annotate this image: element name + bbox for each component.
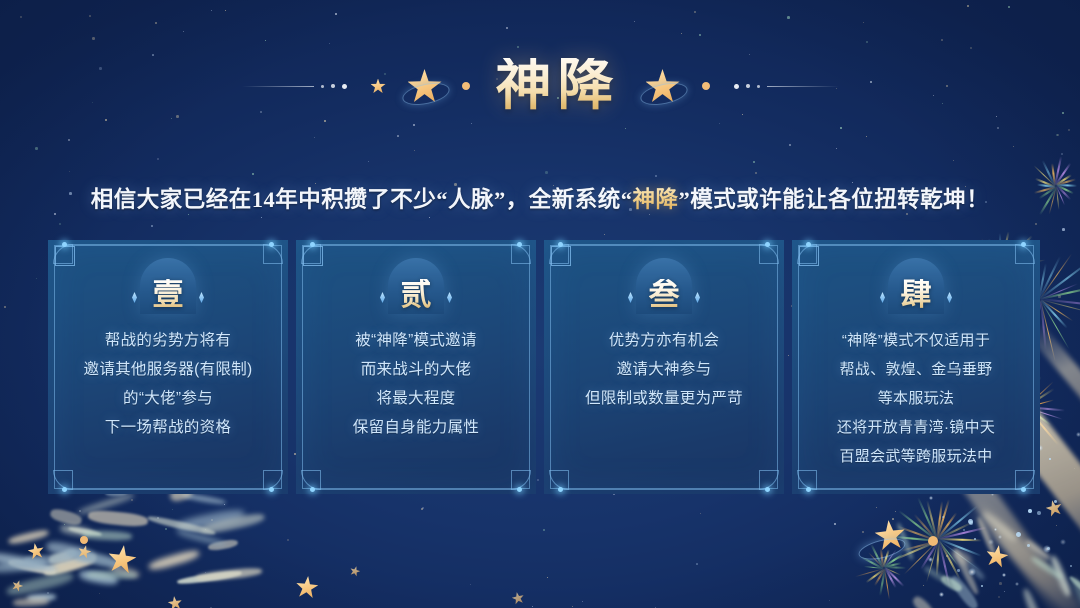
- confetti-streamer: [208, 538, 239, 551]
- card-body: 帮战的劣势方将有邀请其他服务器(有限制)的“大佬”参与下一场帮战的资格: [48, 326, 288, 442]
- title-row: 神降: [0, 42, 1080, 130]
- card-numeral-badge: 贰: [376, 258, 456, 314]
- feature-card-list: 壹帮战的劣势方将有邀请其他服务器(有限制)的“大佬”参与下一场帮战的资格贰被“神…: [48, 240, 1040, 494]
- card-numeral-badge: 壹: [128, 258, 208, 314]
- star-icon: [77, 544, 93, 560]
- confetti-streamer: [1070, 577, 1080, 608]
- sparkle-icon: [969, 521, 973, 525]
- badge-gem-icon: [880, 292, 885, 303]
- card-text-line: 帮战的劣势方将有: [58, 326, 278, 355]
- card-text-line: 百盟会武等跨服玩法中: [802, 442, 1030, 471]
- confetti-streamer: [182, 492, 227, 506]
- card-corner-icon: [263, 244, 283, 264]
- sparkle-icon: [939, 592, 944, 597]
- star-swirl-ring-icon: [857, 534, 908, 563]
- sparkle-icon: [929, 496, 933, 500]
- card-node-icon: [806, 242, 811, 247]
- star-icon: [349, 565, 361, 577]
- card-node-icon: [62, 242, 67, 247]
- confetti-streamer: [1048, 554, 1072, 597]
- card-corner-icon: [759, 244, 779, 264]
- star-icon: [408, 69, 442, 103]
- card-numeral: 肆: [901, 279, 932, 314]
- card-text-line: 邀请大神参与: [554, 355, 774, 384]
- star-icon: [1044, 498, 1063, 517]
- confetti-streamer: [177, 569, 242, 585]
- badge-gem-icon: [380, 292, 385, 303]
- card-text-line: 的“大佬”参与: [58, 384, 278, 413]
- card-node-icon: [269, 487, 274, 492]
- confetti-streamer: [42, 552, 97, 578]
- star-icon: [295, 575, 319, 599]
- feature-card: 肆“神降”模式不仅适用于帮战、敦煌、金乌垂野等本服玩法还将开放青青湾·镜中天百盟…: [792, 240, 1040, 494]
- subtitle-part-1: 相信大家已经在14年中积攒了不少“人脉”，全新系统“: [91, 187, 633, 212]
- card-text-line: 还将开放青青湾·镜中天: [802, 413, 1030, 442]
- confetti-streamer: [87, 570, 138, 579]
- sparkle-icon: [1060, 539, 1066, 545]
- sparkle-icon: [1016, 532, 1021, 537]
- card-text-line: 但限制或数量更为严苛: [554, 384, 774, 413]
- card-body: 优势方亦有机会邀请大神参与但限制或数量更为严苛: [544, 326, 784, 413]
- confetti-streamer: [1068, 575, 1080, 608]
- sparkle-icon: [1002, 573, 1006, 577]
- card-node-icon: [310, 242, 315, 247]
- confetti-streamer: [24, 554, 72, 565]
- deco-dot-icon: [734, 84, 739, 89]
- poster-stage: 神降 相信大家已经在14年中积攒了不少“人脉”，全新系统“神降”模式或许能让各位…: [0, 0, 1080, 608]
- sparkle-icon: [942, 516, 944, 518]
- sparkle-icon: [981, 585, 983, 587]
- feature-card: 壹帮战的劣势方将有邀请其他服务器(有限制)的“大佬”参与下一场帮战的资格: [48, 240, 288, 494]
- card-numeral-badge: 叁: [624, 258, 704, 314]
- card-node-icon: [269, 242, 274, 247]
- star-icon: [371, 79, 386, 94]
- confetti-streamer: [82, 530, 132, 541]
- card-rail: [312, 244, 520, 245]
- card-corner-icon: [549, 244, 569, 264]
- confetti-streamer: [201, 512, 266, 536]
- confetti-streamer: [948, 574, 980, 608]
- sparkle-icon: [1049, 458, 1051, 460]
- confetti-streamer: [78, 568, 118, 586]
- card-node-icon: [765, 487, 770, 492]
- deco-dot-icon: [746, 84, 750, 88]
- feature-card: 贰被“神降”模式邀请而来战斗的大佬将最大程度保留自身能力属性: [296, 240, 536, 494]
- badge-gem-icon: [199, 292, 204, 303]
- card-text-line: 保留自身能力属性: [306, 413, 526, 442]
- sparkle-icon: [988, 539, 994, 545]
- card-node-icon: [558, 242, 563, 247]
- card-rail: [560, 489, 768, 490]
- confetti-streamer: [87, 509, 148, 528]
- star-swirl-icon: [408, 69, 442, 103]
- card-text-line: 而来战斗的大佬: [306, 355, 526, 384]
- card-node-icon: [765, 242, 770, 247]
- card-rail: [808, 489, 1024, 490]
- confetti-streamer: [923, 565, 946, 583]
- card-node-icon: [517, 242, 522, 247]
- confetti-streamer: [196, 567, 262, 582]
- sparkle-icon: [1054, 500, 1057, 503]
- confetti-streamer: [49, 507, 83, 527]
- confetti-streamer: [950, 547, 974, 567]
- confetti-streamer: [175, 529, 225, 548]
- feature-card: 叁优势方亦有机会邀请大神参与但限制或数量更为严苛: [544, 240, 784, 494]
- confetti-streamer: [175, 507, 245, 533]
- card-text-line: 邀请其他服务器(有限制): [58, 355, 278, 384]
- confetti-streamer: [8, 529, 50, 546]
- sparkle-icon: [1043, 545, 1051, 553]
- badge-gem-icon: [947, 292, 952, 303]
- sparkle-icon: [968, 568, 976, 576]
- card-text-line: 下一场帮战的资格: [58, 413, 278, 442]
- confetti-streamer: [47, 548, 77, 565]
- subtitle: 相信大家已经在14年中积攒了不少“人脉”，全新系统“神降”模式或许能让各位扭转乾…: [0, 182, 1080, 214]
- star-icon: [167, 595, 183, 608]
- badge-gem-icon: [628, 292, 633, 303]
- confetti-streamer: [147, 548, 200, 572]
- sparkle-icon: [957, 569, 960, 572]
- card-text-line: 帮战、敦煌、金乌垂野: [802, 355, 1030, 384]
- card-numeral: 贰: [401, 279, 432, 314]
- card-node-icon: [62, 487, 67, 492]
- card-text-line: 等本服玩法: [802, 384, 1030, 413]
- confetti-streamer: [27, 594, 56, 602]
- card-text-line: “神降”模式不仅适用于: [802, 326, 1030, 355]
- confetti-streamer: [12, 597, 48, 606]
- sparkle-icon: [1070, 565, 1072, 567]
- star-dot-icon: [702, 82, 710, 90]
- card-node-icon: [1021, 487, 1026, 492]
- page-title: 神降: [470, 58, 646, 114]
- dot-icon: [928, 536, 938, 546]
- badge-gem-icon: [695, 292, 700, 303]
- badge-gem-icon: [447, 292, 452, 303]
- title-decor-left: [242, 69, 470, 103]
- card-numeral-badge: 肆: [876, 258, 956, 314]
- card-corner-icon: [797, 244, 817, 264]
- sparkle-icon: [928, 557, 933, 562]
- sparkle-icon: [1015, 582, 1019, 586]
- badge-gem-icon: [132, 292, 137, 303]
- star-swirl-icon: [646, 69, 680, 103]
- confetti-streamer: [975, 516, 996, 556]
- card-corner-icon: [53, 244, 73, 264]
- card-node-icon: [517, 487, 522, 492]
- confetti-streamer: [59, 523, 92, 537]
- sparkle-icon: [1076, 432, 1080, 437]
- deco-dot-icon: [757, 85, 760, 88]
- deco-dot-icon: [321, 85, 324, 88]
- confetti-streamer: [1022, 587, 1047, 608]
- star-icon: [646, 69, 680, 103]
- sparkle-icon: [974, 538, 976, 540]
- deco-dot-icon: [331, 84, 335, 88]
- dot-icon: [80, 536, 88, 544]
- card-corner-icon: [1015, 244, 1035, 264]
- card-node-icon: [558, 487, 563, 492]
- sparkle-icon: [968, 519, 973, 524]
- deco-line-right: [767, 86, 839, 87]
- confetti-streamer: [0, 557, 47, 574]
- sparkle-icon: [963, 529, 965, 531]
- sparkle-icon: [1037, 511, 1041, 515]
- card-body: 被“神降”模式邀请而来战斗的大佬将最大程度保留自身能力属性: [296, 326, 536, 442]
- deco-dot-icon: [342, 84, 347, 89]
- sparkle-icon: [1028, 509, 1032, 513]
- card-body: “神降”模式不仅适用于帮战、敦煌、金乌垂野等本服玩法还将开放青青湾·镜中天百盟会…: [792, 326, 1040, 471]
- confetti-streamer: [1031, 555, 1064, 580]
- card-rail: [560, 244, 768, 245]
- card-rail: [808, 244, 1024, 245]
- confetti-streamer: [0, 550, 57, 574]
- confetti-streamer: [910, 595, 935, 608]
- card-numeral: 壹: [153, 279, 184, 314]
- subtitle-highlight: 神降: [632, 187, 678, 212]
- card-node-icon: [310, 487, 315, 492]
- title-decor-right: [646, 69, 839, 103]
- card-corner-icon: [301, 244, 321, 264]
- card-text-line: 被“神降”模式邀请: [306, 326, 526, 355]
- sparkle-icon: [994, 528, 997, 531]
- deco-line-left: [242, 86, 314, 87]
- star-dot-icon: [462, 82, 470, 90]
- card-node-icon: [806, 487, 811, 492]
- card-numeral: 叁: [649, 279, 680, 314]
- confetti-streamer: [147, 515, 216, 537]
- confetti-streamer: [8, 558, 57, 576]
- confetti-streamer: [77, 492, 133, 515]
- glitter-beam: [967, 498, 1080, 608]
- card-rail: [64, 489, 272, 490]
- star-icon: [10, 578, 24, 592]
- card-rail: [64, 244, 272, 245]
- card-text-line: 将最大程度: [306, 384, 526, 413]
- card-node-icon: [1021, 242, 1026, 247]
- subtitle-part-2: ”模式或许能让各位扭转乾坤！: [679, 187, 990, 212]
- sparkle-icon: [1027, 544, 1030, 547]
- sparkle-icon: [998, 535, 1002, 539]
- star-icon: [984, 543, 1009, 568]
- star-icon: [27, 542, 46, 561]
- card-text-line: 优势方亦有机会: [554, 326, 774, 355]
- confetti-streamer: [939, 573, 963, 593]
- card-rail: [312, 489, 520, 490]
- star-icon: [106, 543, 138, 575]
- star-icon: [511, 591, 525, 605]
- card-corner-icon: [511, 244, 531, 264]
